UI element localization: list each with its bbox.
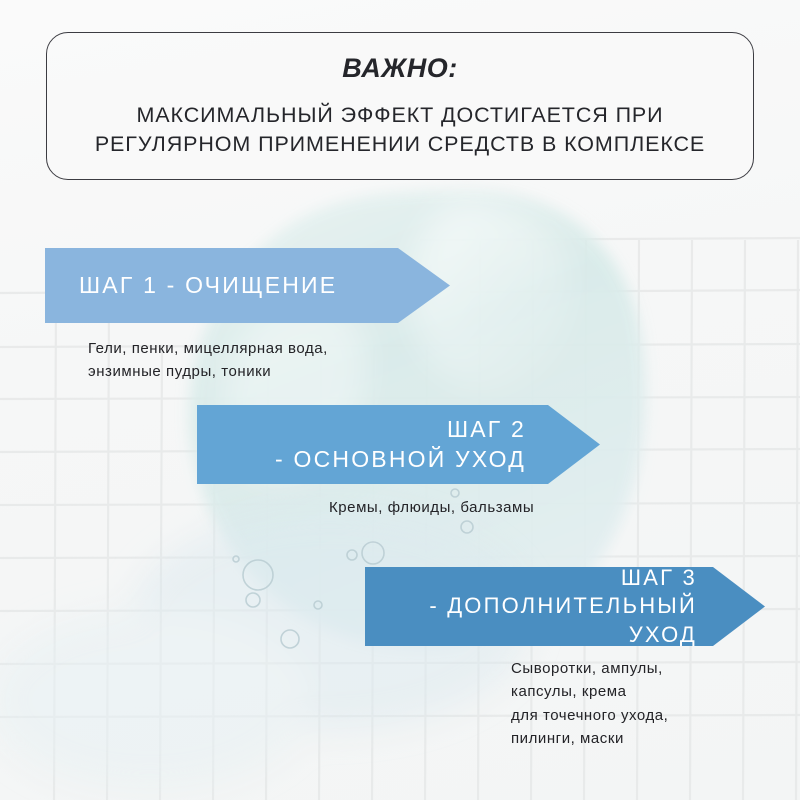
step-1-label: ШАГ 1 - ОЧИЩЕНИЕ bbox=[45, 271, 450, 300]
infographic-canvas: ВАЖНО: МАКСИМАЛЬНЫЙ ЭФФЕКТ ДОСТИГАЕТСЯ П… bbox=[0, 0, 800, 800]
step-3-caption: Сыворотки, ампулы, капсулы, крема для то… bbox=[511, 657, 668, 750]
callout-line-2: РЕГУЛЯРНОМ ПРИМЕНЕНИИ СРЕДСТВ В КОМПЛЕКС… bbox=[95, 130, 705, 159]
step-3-label: ШАГ 3 - ДОПОЛНИТЕЛЬНЫЙ УХОД bbox=[365, 564, 765, 648]
step-1-arrow[interactable]: ШАГ 1 - ОЧИЩЕНИЕ bbox=[45, 248, 450, 323]
callout-kicker: ВАЖНО: bbox=[342, 53, 458, 84]
step-1-caption: Гели, пенки, мицеллярная вода, энзимные … bbox=[88, 337, 328, 384]
step-2-arrow[interactable]: ШАГ 2 - ОСНОВНОЙ УХОД bbox=[197, 405, 600, 484]
step-2-label: ШАГ 2 - ОСНОВНОЙ УХОД bbox=[197, 415, 600, 474]
step-2-caption: Кремы, флюиды, бальзамы bbox=[329, 496, 534, 519]
step-3-arrow[interactable]: ШАГ 3 - ДОПОЛНИТЕЛЬНЫЙ УХОД bbox=[365, 567, 765, 646]
important-callout-box: ВАЖНО: МАКСИМАЛЬНЫЙ ЭФФЕКТ ДОСТИГАЕТСЯ П… bbox=[46, 32, 754, 180]
callout-line-1: МАКСИМАЛЬНЫЙ ЭФФЕКТ ДОСТИГАЕТСЯ ПРИ bbox=[136, 101, 663, 130]
